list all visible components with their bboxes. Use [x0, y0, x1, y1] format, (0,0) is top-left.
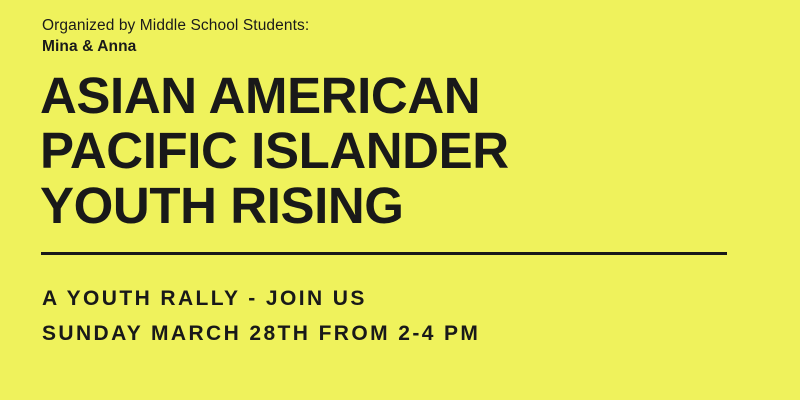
event-details-block: A YOUTH RALLY - JOIN US SUNDAY MARCH 28T…: [42, 281, 480, 351]
event-datetime: SUNDAY MARCH 28TH FROM 2-4 PM: [42, 316, 480, 351]
horizontal-divider: [41, 252, 727, 255]
organizer-names: Mina & Anna: [42, 36, 309, 57]
page-title: ASIAN AMERICAN PACIFIC ISLANDER YOUTH RI…: [40, 68, 509, 233]
headline-line-1: ASIAN AMERICAN: [40, 68, 509, 123]
headline-line-3: YOUTH RISING: [40, 178, 509, 233]
organizer-credit-block: Organized by Middle School Students: Min…: [42, 15, 309, 57]
headline-line-2: PACIFIC ISLANDER: [40, 123, 509, 178]
event-subtitle: A YOUTH RALLY - JOIN US: [42, 281, 480, 316]
organizer-credit-label: Organized by Middle School Students:: [42, 15, 309, 36]
event-banner: Organized by Middle School Students: Min…: [0, 0, 800, 400]
